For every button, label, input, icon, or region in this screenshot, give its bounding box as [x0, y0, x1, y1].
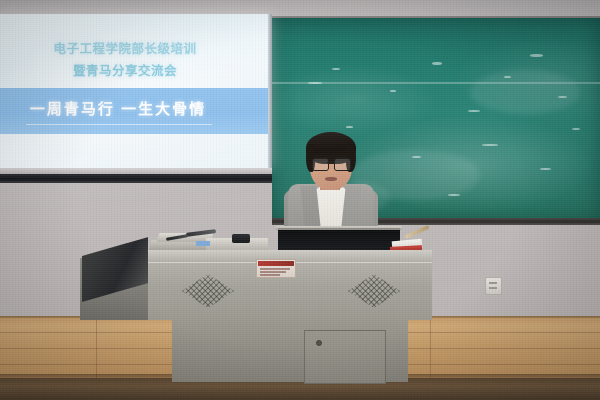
lock-icon[interactable]	[316, 340, 322, 346]
label-header-band	[258, 261, 294, 266]
chalk-mark	[540, 168, 551, 170]
glasses-icon	[334, 158, 351, 171]
lectern-cabinet-door[interactable]	[304, 330, 386, 384]
outlet-slot-icon	[489, 282, 497, 284]
slide-title-line-2: 暨青马分享交流会	[0, 60, 250, 79]
blue-sticker	[196, 241, 210, 246]
chalk-mark	[332, 68, 340, 70]
remote-control[interactable]	[232, 234, 250, 243]
slide-title-line-1: 电子工程学院部长级培训	[0, 38, 250, 57]
chalk-smudge	[470, 70, 580, 114]
projection-screen: 电子工程学院部长级培训 暨青马分享交流会 一周青马行 一生大骨情	[0, 14, 272, 176]
chalk-mark	[572, 128, 580, 130]
glasses-icon	[312, 158, 329, 171]
equipment-label	[256, 259, 296, 278]
chalk-mark	[390, 90, 396, 92]
screen-right-edge	[268, 14, 272, 168]
chalk-mark	[530, 54, 543, 57]
wall-outlet[interactable]	[485, 277, 502, 295]
screen-roller-bar	[0, 174, 272, 183]
glasses-bridge	[327, 162, 334, 163]
slide-banner-text: 一周青马行 一生大骨情	[0, 98, 236, 119]
chalk-mark	[432, 62, 442, 65]
presenter-mouth	[325, 177, 337, 181]
chalk-mark	[482, 144, 498, 146]
chalk-mark	[308, 82, 322, 84]
outlet-slot-icon	[489, 287, 497, 289]
slide-banner-rule	[26, 124, 212, 125]
presenter-eyebrow	[313, 155, 326, 157]
presenter-eyebrow	[335, 155, 348, 157]
classroom-presentation-photo: 电子工程学院部长级培训 暨青马分享交流会 一周青马行 一生大骨情	[0, 0, 600, 400]
chalk-mark	[468, 110, 480, 112]
